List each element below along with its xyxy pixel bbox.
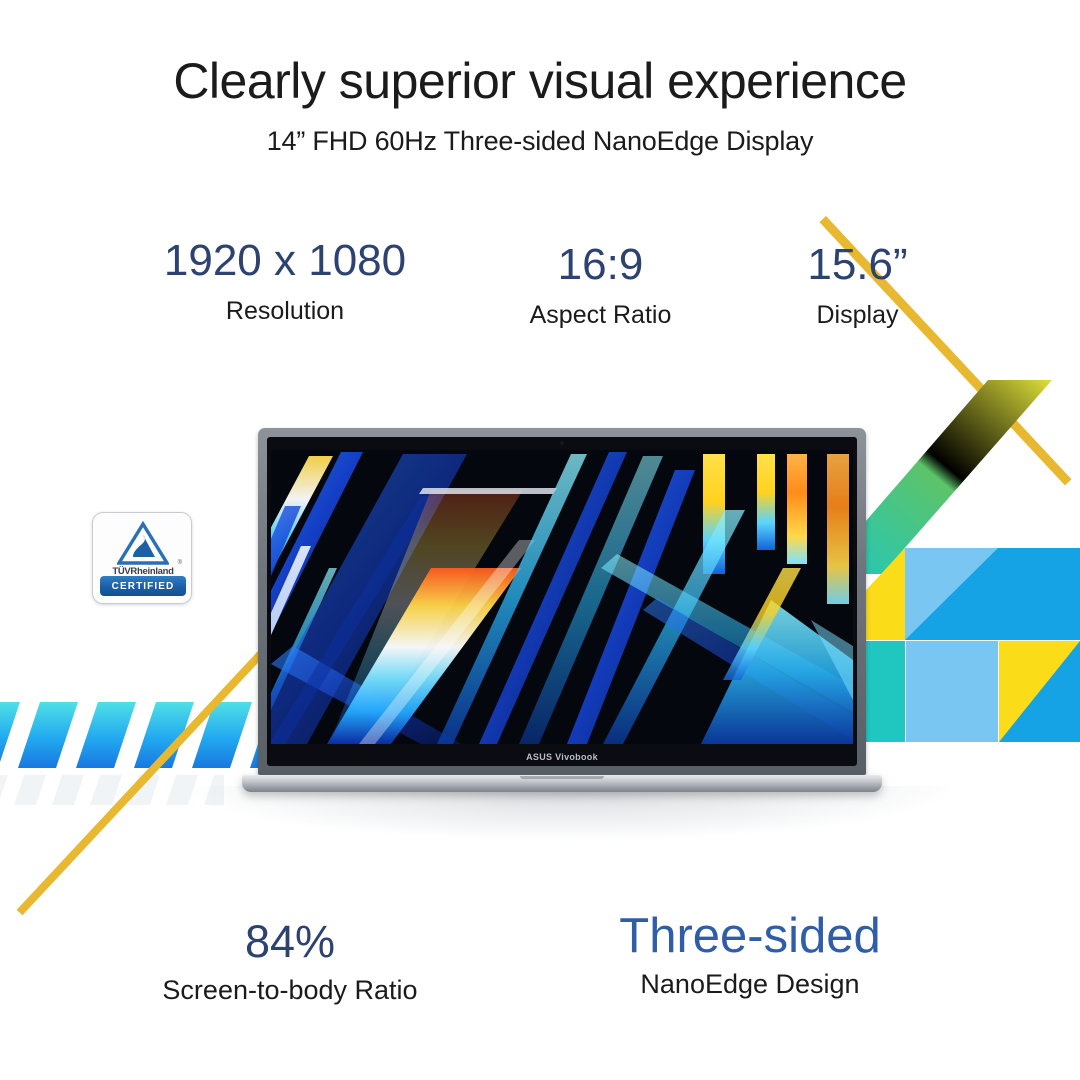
display-bezel: ASUS Vivobook [267, 437, 857, 766]
webcam-icon [560, 441, 564, 445]
page-title: Clearly superior visual experience [0, 52, 1080, 110]
spec-row: 1920 x 1080 Resolution 16:9 Aspect Ratio… [0, 234, 1080, 349]
product-feature-graphic: Clearly superior visual experience 14” F… [0, 0, 1080, 1080]
base-notch [520, 776, 604, 779]
faint-white-stripe-band [0, 775, 224, 805]
spec-item-resolution: 1920 x 1080 Resolution [130, 234, 440, 328]
page-subtitle: 14” FHD 60Hz Three-sided NanoEdge Displa… [0, 126, 1080, 157]
spec-value: 15.6” [760, 238, 955, 292]
stat-item-nanoedge: Three-sided NanoEdge Design [560, 908, 940, 1002]
registered-mark: ® [178, 560, 182, 566]
spec-item-aspect-ratio: 16:9 Aspect Ratio [488, 238, 713, 332]
laptop-brand-logo: ASUS Vivobook [267, 752, 857, 762]
stat-label: Screen-to-body Ratio [140, 972, 440, 1008]
stat-value: 84% [140, 914, 440, 970]
laptop-base [242, 775, 882, 792]
spec-value: 16:9 [488, 238, 713, 292]
laptop-screen [271, 450, 853, 744]
spec-label: Display [760, 298, 955, 332]
stat-value: Three-sided [560, 908, 940, 964]
gold-diagonal-left [17, 647, 268, 916]
tuv-rheinland-certified-badge: TÜVRheinland ® CERTIFIED [92, 512, 192, 604]
cyan-stripe-band-left [0, 702, 272, 768]
spec-value: 1920 x 1080 [130, 234, 440, 288]
tuv-triangle-icon [117, 521, 169, 565]
stat-row: 84% Screen-to-body Ratio Three-sided Nan… [0, 908, 1080, 1028]
laptop-lid: ASUS Vivobook [258, 428, 866, 775]
stat-label: NanoEdge Design [560, 966, 940, 1002]
stat-item-screen-to-body: 84% Screen-to-body Ratio [140, 914, 440, 1008]
spec-item-display-size: 15.6” Display [760, 238, 955, 332]
certified-banner: CERTIFIED [100, 576, 186, 596]
spec-label: Aspect Ratio [488, 298, 713, 332]
laptop-product-image: ASUS Vivobook [258, 428, 866, 800]
spec-label: Resolution [130, 294, 440, 328]
